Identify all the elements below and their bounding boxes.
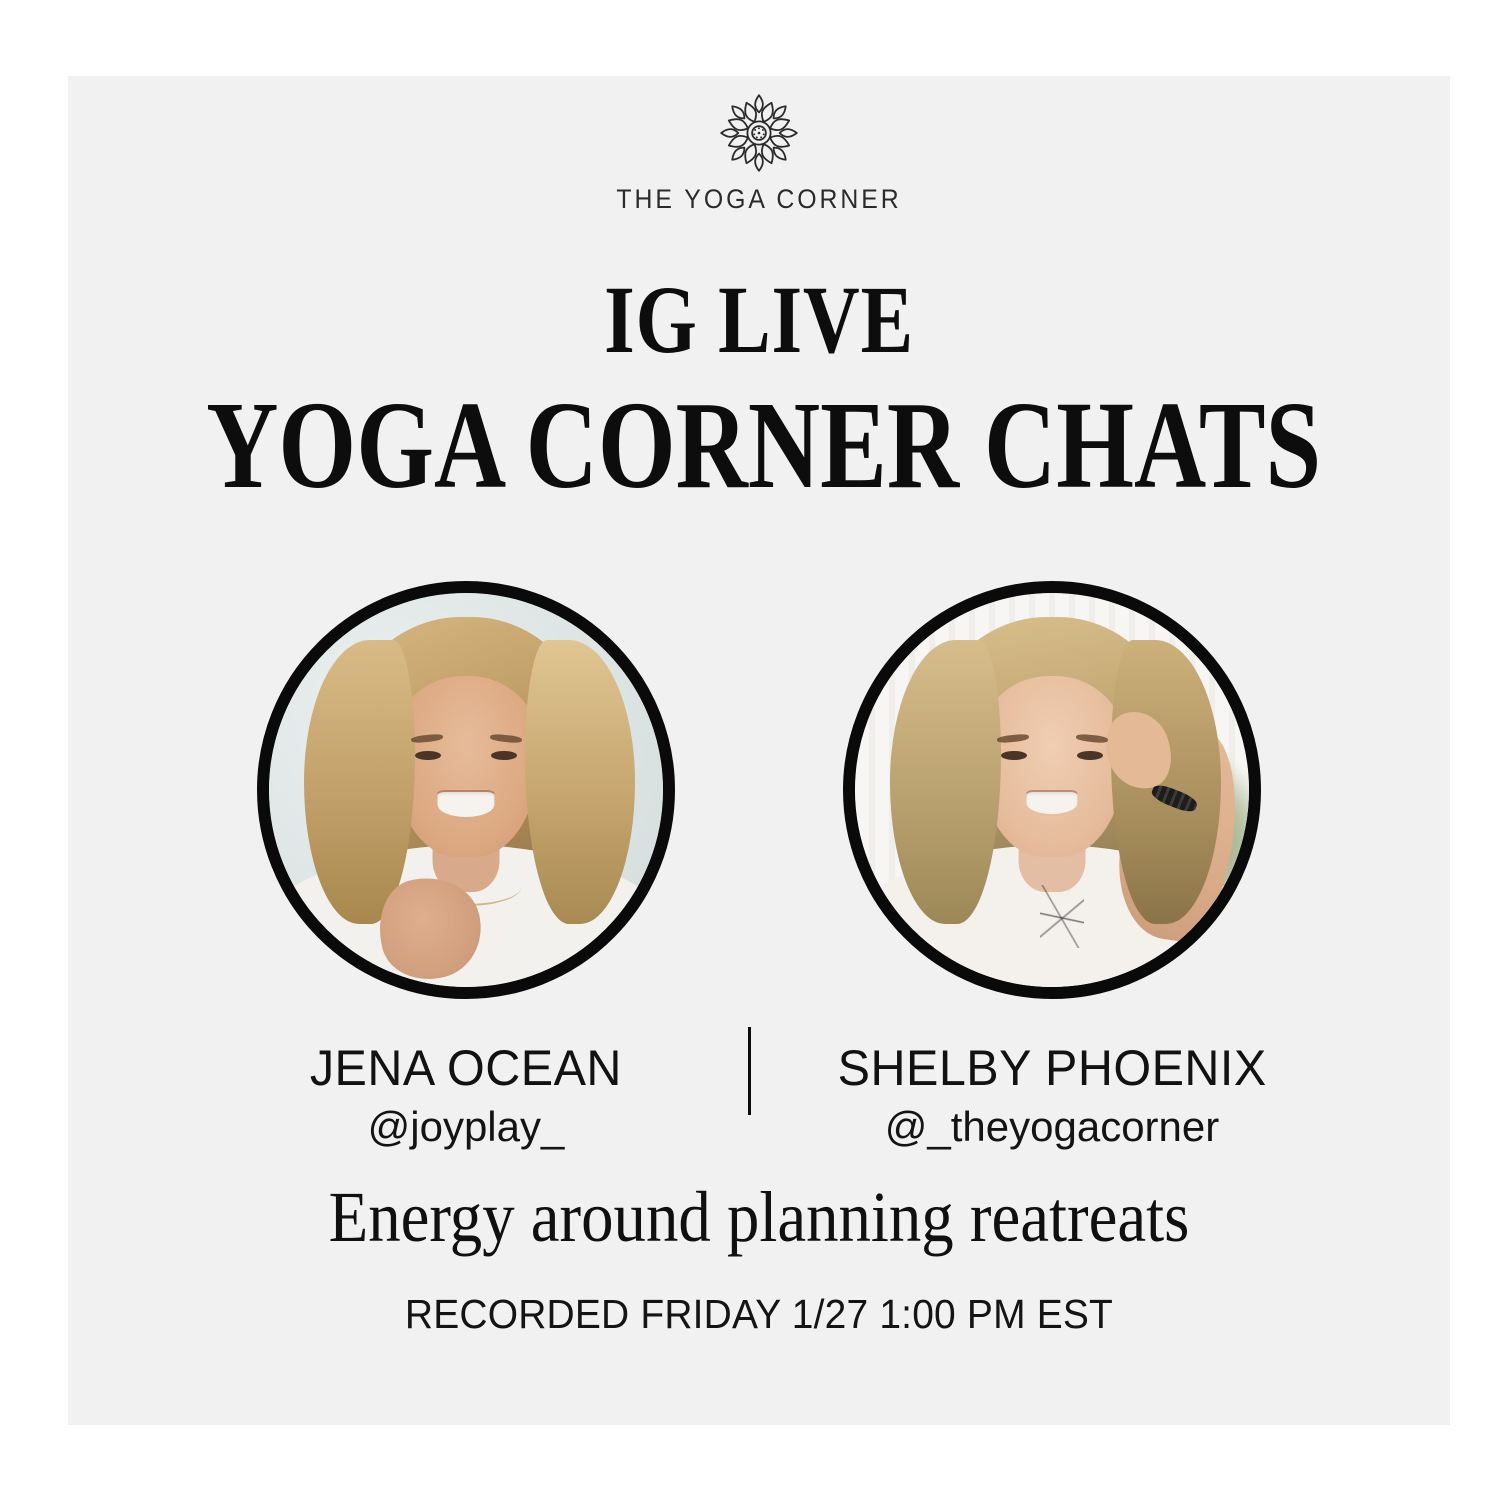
headline-line-2: YOGA CORNER CHATS: [206, 381, 1312, 511]
session-topic: Energy around planning reatreats: [137, 1176, 1381, 1259]
guest-photo-shelby-phoenix: [855, 593, 1249, 987]
headline-line-1: IG LIVE: [192, 271, 1325, 369]
guest-name: JENA OCEAN: [310, 1039, 622, 1097]
brand-lockup: THE YOGA CORNER: [68, 90, 1450, 215]
guest-list: JENA OCEAN @joyplay_: [68, 581, 1450, 1151]
guest-handle[interactable]: @_theyogacorner: [885, 1103, 1220, 1151]
guest-card: SHELBY PHOENIX @_theyogacorner: [843, 581, 1261, 1151]
brand-name: THE YOGA CORNER: [616, 184, 901, 215]
guest-photo-jena-ocean: [269, 593, 663, 987]
mandala-lotus-icon: [716, 90, 802, 176]
recorded-timestamp: RECORDED FRIDAY 1/27 1:00 PM EST: [103, 1291, 1416, 1338]
guest-handle[interactable]: @joyplay_: [368, 1103, 565, 1151]
guest-name: SHELBY PHOENIX: [837, 1039, 1266, 1097]
guest-card: JENA OCEAN @joyplay_: [257, 581, 675, 1151]
poster-frame: THE YOGA CORNER IG LIVE YOGA CORNER CHAT…: [0, 0, 1500, 1500]
page-title: IG LIVE YOGA CORNER CHATS: [68, 271, 1450, 511]
guest-divider: [748, 1027, 751, 1115]
avatar: [257, 581, 675, 999]
avatar: [843, 581, 1261, 999]
poster-canvas: THE YOGA CORNER IG LIVE YOGA CORNER CHAT…: [68, 76, 1450, 1425]
